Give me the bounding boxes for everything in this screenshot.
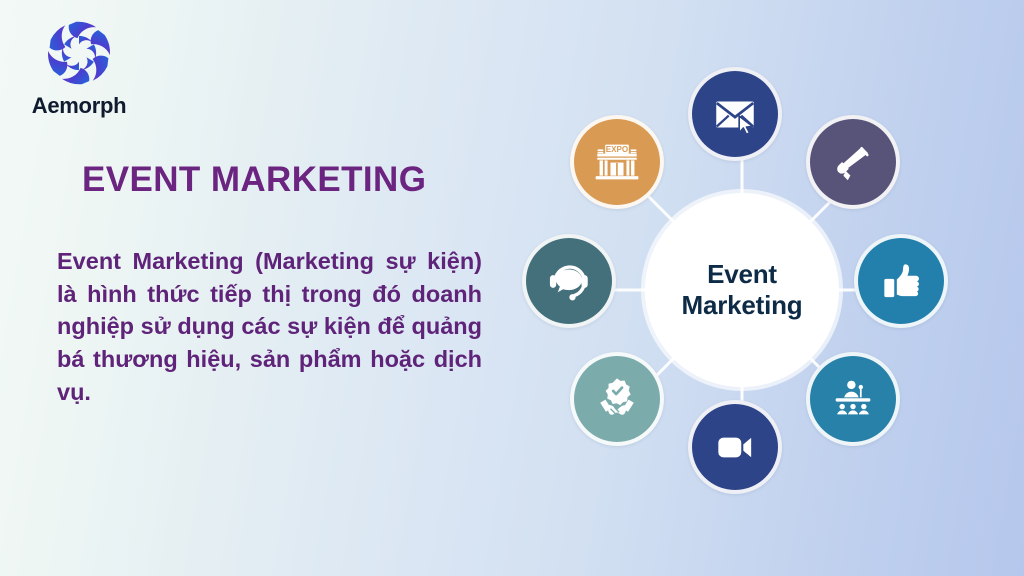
node-engagement[interactable]	[854, 234, 948, 328]
node-promotion[interactable]	[806, 115, 900, 209]
megaphone-icon	[828, 137, 878, 187]
expo-label: EXPO	[606, 145, 628, 154]
node-email-marketing[interactable]	[688, 67, 782, 161]
node-live-video[interactable]	[688, 400, 782, 494]
page-title: EVENT MARKETING	[82, 160, 426, 200]
conference-audience-icon	[827, 373, 879, 425]
headset-chat-icon	[543, 255, 595, 307]
node-conference[interactable]	[806, 352, 900, 446]
hub-label: Event Marketing	[681, 259, 802, 320]
handshake-verified-icon	[591, 373, 643, 425]
thumbs-up-icon	[876, 256, 926, 306]
event-marketing-hub-diagram: EXPO Event Marketing	[500, 48, 984, 532]
expo-building-icon: EXPO	[590, 135, 644, 189]
hub-label-line2: Marketing	[681, 290, 802, 320]
brand-name: Aemorph	[14, 93, 144, 119]
left-content-column: Aemorph EVENT MARKETING Event Marketing …	[0, 0, 512, 576]
hub-label-line1: Event	[707, 259, 777, 289]
node-expo[interactable]: EXPO	[570, 115, 664, 209]
brand-lockup: Aemorph	[14, 14, 144, 119]
node-partnership[interactable]	[570, 352, 664, 446]
video-camera-icon	[710, 422, 760, 472]
node-customer-support[interactable]	[522, 234, 616, 328]
aemorph-hexagonal-swirl-logo-icon	[40, 14, 118, 92]
body-paragraph: Event Marketing (Marketing sự kiện) là h…	[57, 245, 482, 408]
diagram-hub: Event Marketing	[645, 193, 839, 387]
envelope-cursor-icon	[710, 89, 760, 139]
